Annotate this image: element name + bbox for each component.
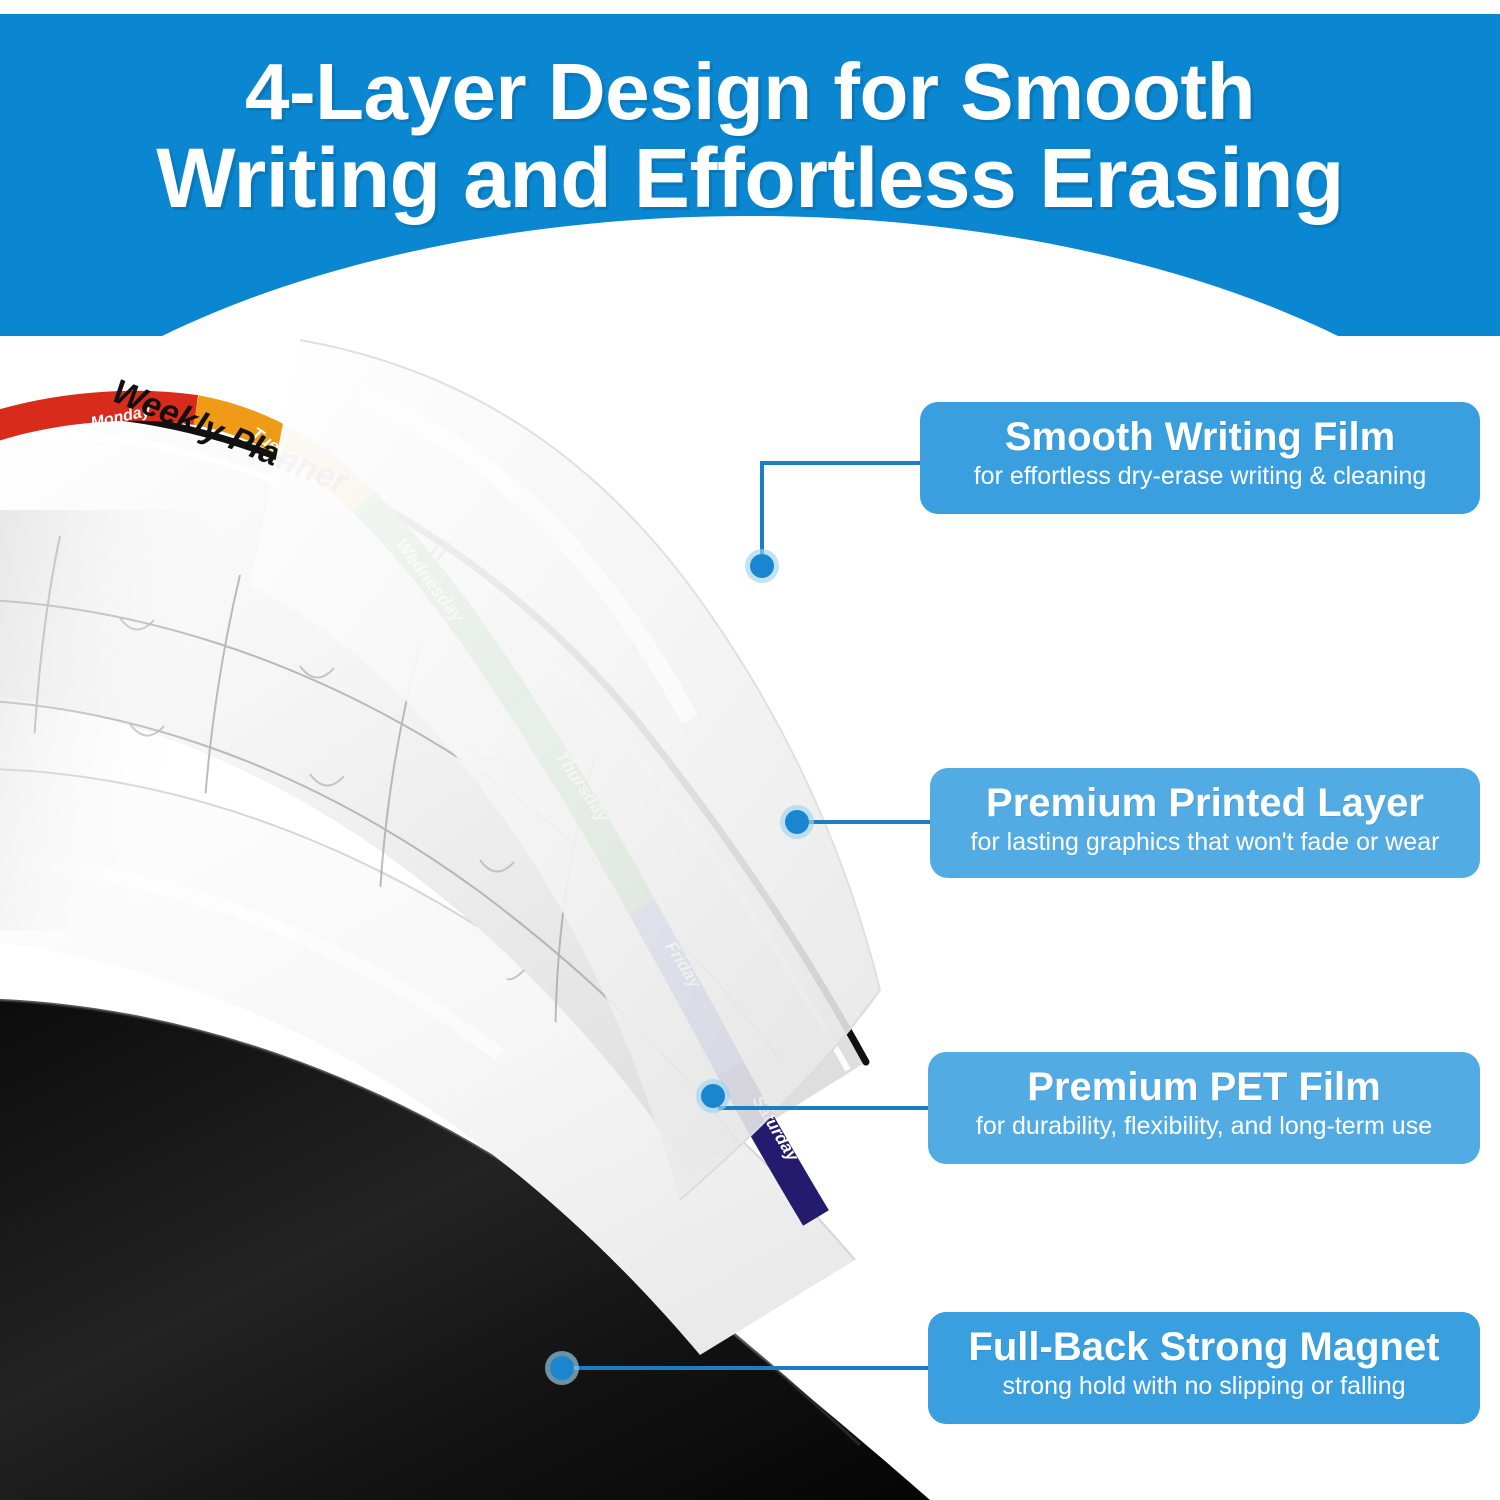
page-title-line-2: Writing and Effortless Erasing: [0, 136, 1500, 220]
callout-title-3: Premium PET Film: [950, 1066, 1458, 1108]
page-title-line-1: 4-Layer Design for Smooth: [0, 52, 1500, 132]
infographic-page: Monday Tuesday Wednesday Thursday Friday…: [0, 0, 1500, 1500]
callout-subtitle-2: for lasting graphics that won't fade or …: [952, 828, 1458, 857]
callout-title-2: Premium Printed Layer: [952, 782, 1458, 824]
callout-subtitle-1: for effortless dry-erase writing & clean…: [942, 462, 1458, 491]
header-bottom-curve: [0, 216, 1500, 336]
callout-title-4: Full-Back Strong Magnet: [950, 1326, 1458, 1368]
page-title: 4-Layer Design for Smooth Writing and Ef…: [0, 14, 1500, 220]
product-layers-illustration: Monday Tuesday Wednesday Thursday Friday…: [0, 300, 1000, 1500]
callout-premium-pet-film[interactable]: Premium PET Film for durability, flexibi…: [928, 1052, 1480, 1164]
callout-subtitle-4: strong hold with no slipping or falling: [950, 1372, 1458, 1401]
callout-title-1: Smooth Writing Film: [942, 416, 1458, 458]
callout-subtitle-3: for durability, flexibility, and long-te…: [950, 1112, 1458, 1141]
callout-full-back-strong-magnet[interactable]: Full-Back Strong Magnet strong hold with…: [928, 1312, 1480, 1424]
callout-smooth-writing-film[interactable]: Smooth Writing Film for effortless dry-e…: [920, 402, 1480, 514]
header-banner: 4-Layer Design for Smooth Writing and Ef…: [0, 14, 1500, 336]
callout-premium-printed-layer[interactable]: Premium Printed Layer for lasting graphi…: [930, 768, 1480, 878]
